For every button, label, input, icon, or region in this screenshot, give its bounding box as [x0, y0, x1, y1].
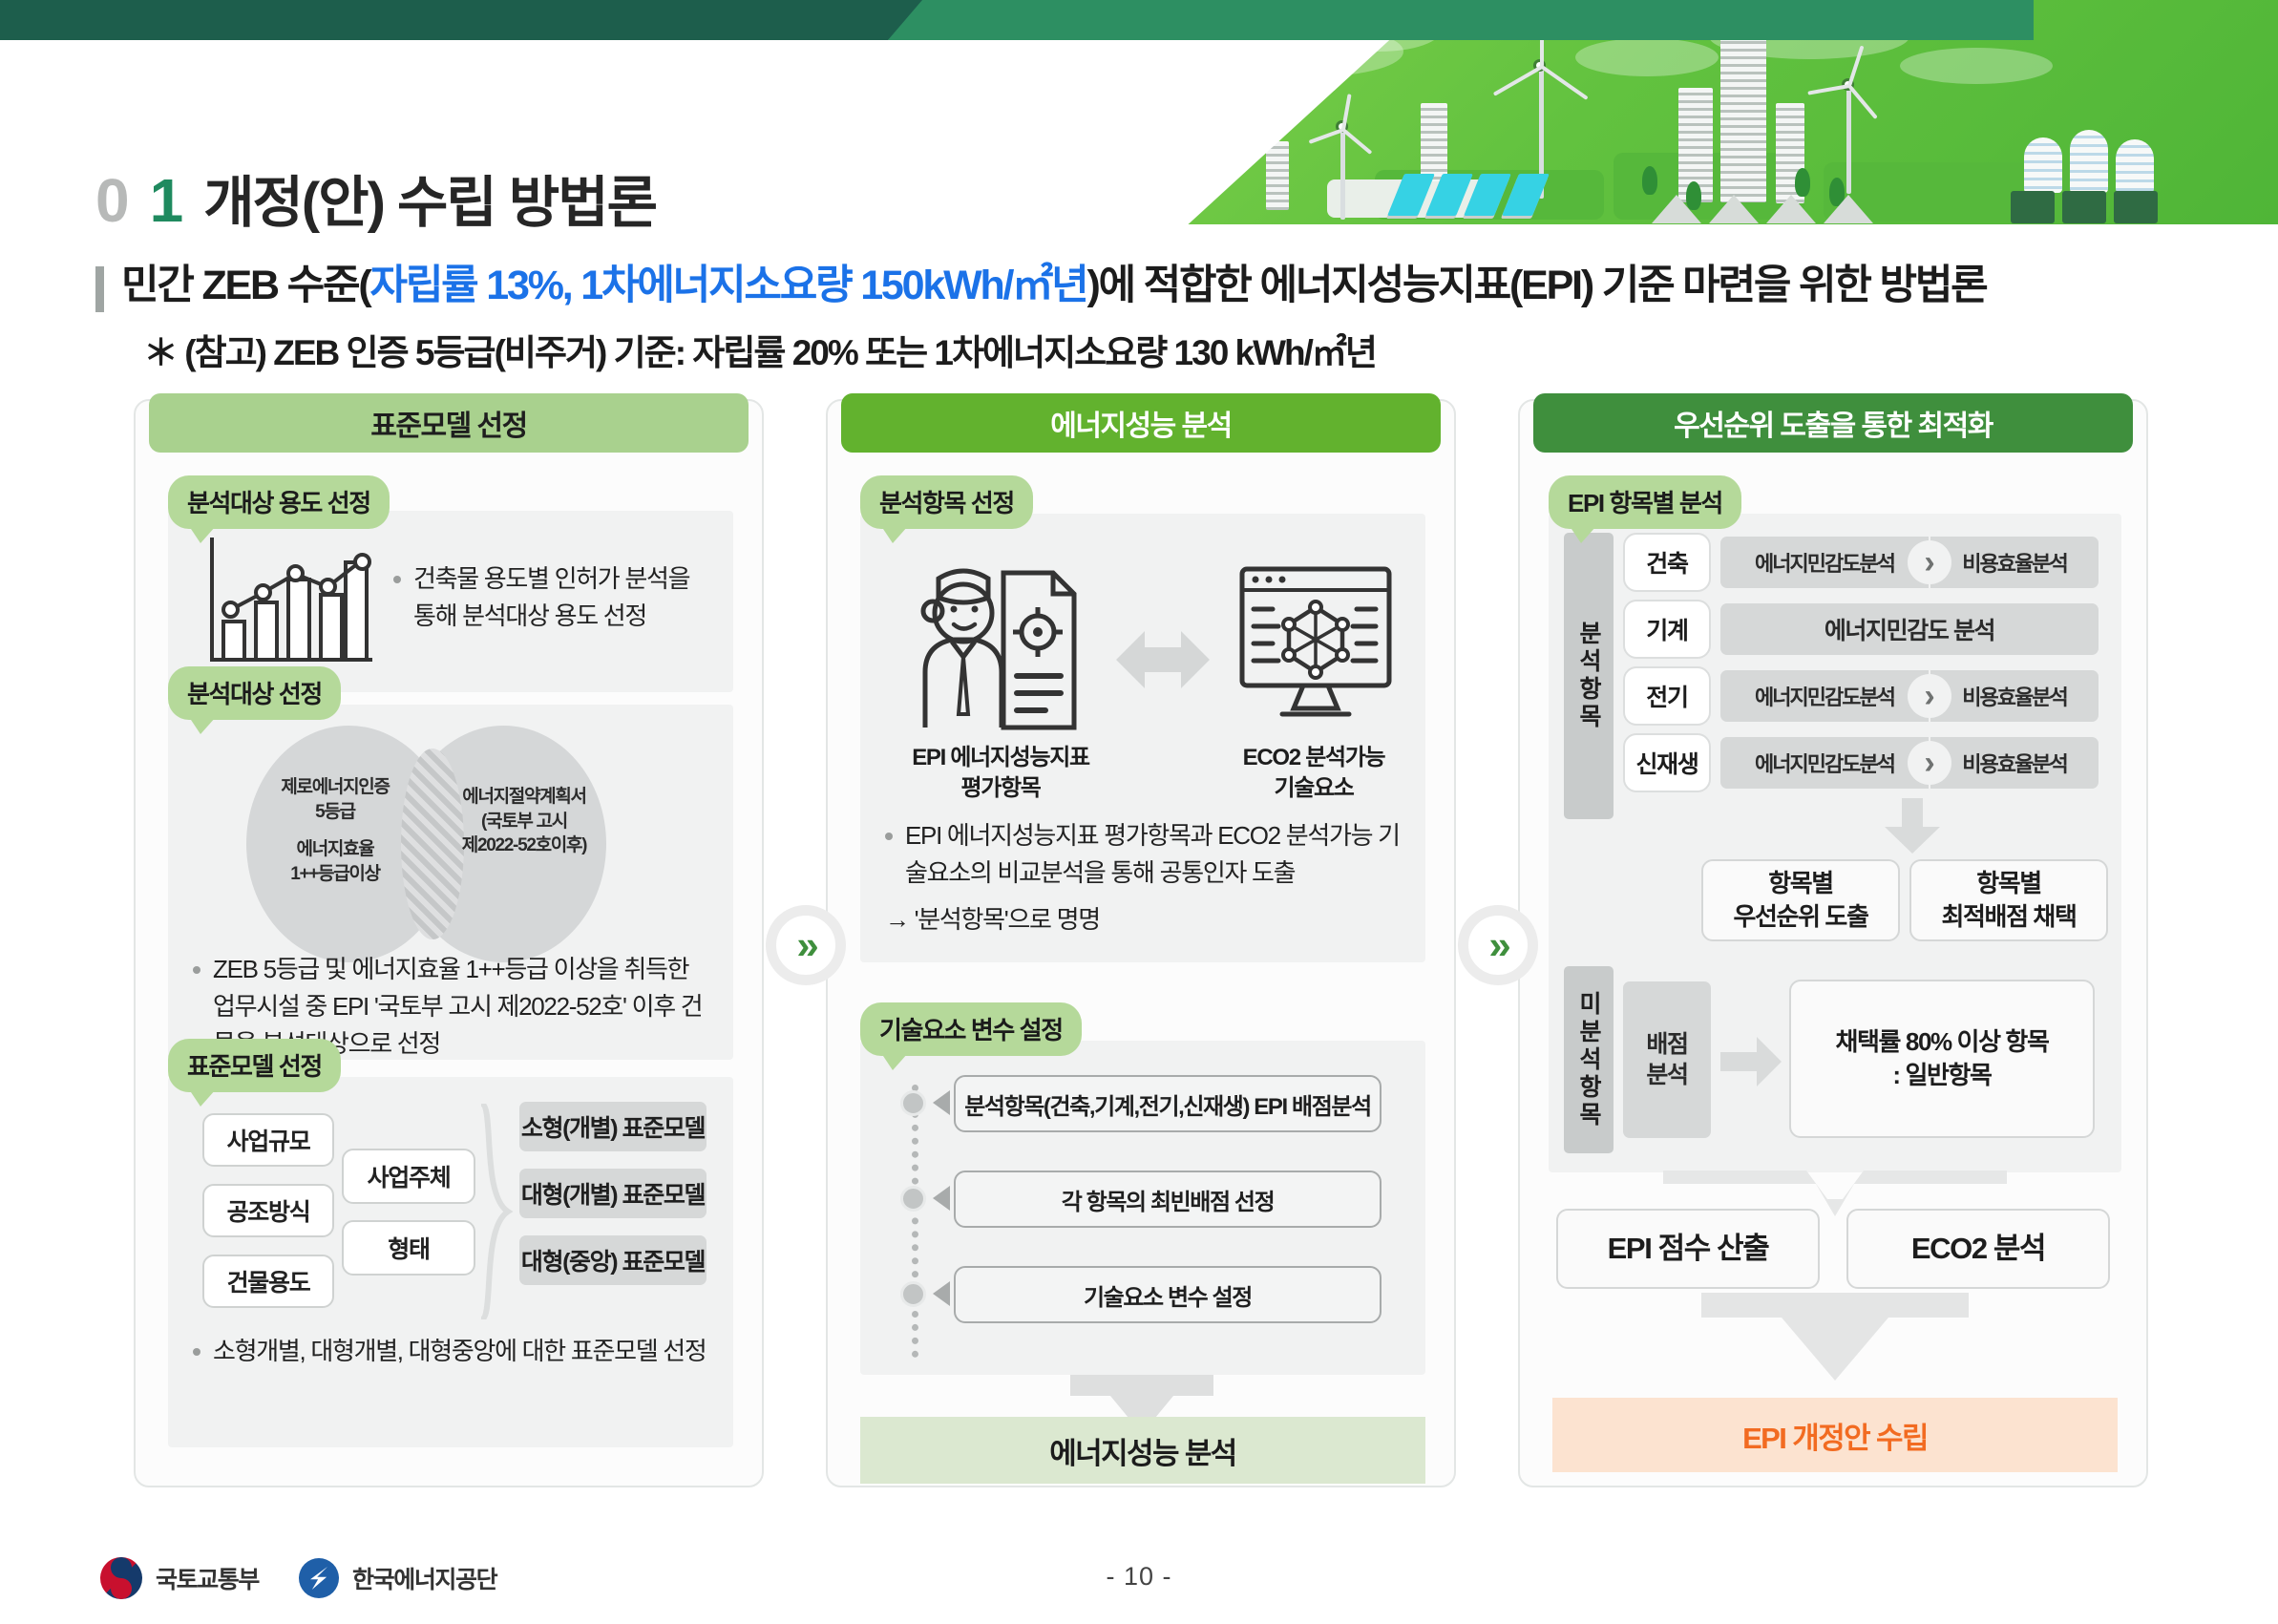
section-number-second: 1 — [150, 165, 183, 236]
column-energy-analysis: 에너지성능 분석 분석항목 선정 — [826, 399, 1456, 1487]
score-analysis-label: 배점 분석 — [1623, 981, 1711, 1138]
timeline-line — [912, 1085, 918, 1358]
matrix-row-label-mechanical: 기계 — [1623, 600, 1711, 659]
bullet-usage: 건축물 용도별 인허가 분석을 통해 분석대상 용도 선정 — [393, 560, 708, 635]
chevron-right-icon: › — [1908, 674, 1951, 718]
bullet-naming: → '분석항목'으로 명명 — [885, 901, 1100, 939]
bubble-epi-item-analysis: EPI 항목별 분석 — [1549, 475, 1741, 529]
matrix-cell-sensitivity-1: 에너지민감도분석 — [1720, 537, 1929, 588]
chevron-right-icon: › — [1908, 540, 1951, 584]
matrix-cell-sensitivity-2: 에너지민감도 분석 — [1720, 603, 2099, 655]
panel-optimization: 분석항목 건축 에너지민감도분석 비용효율분석 › 기계 에너지민감도 분석 전… — [1549, 514, 2121, 1172]
slide: 01 개정(안) 수립 방법론 민간 ZEB 수준(자립률 13%, 1차에너지… — [0, 0, 2278, 1624]
subtitle-suffix: )에 적합한 에너지성능지표(EPI) 기준 마련을 위한 방법론 — [1086, 263, 1986, 308]
result-bar-epi-revision: EPI 개정안 수립 — [1552, 1398, 2118, 1472]
final-box-eco2: ECO2 분석 — [1846, 1209, 2110, 1289]
bar-chart-icon — [200, 538, 372, 662]
page-number: - 10 - — [0, 1562, 2278, 1592]
epi-evaluator-icon — [910, 559, 1091, 736]
matrix-cell-cost-1: 비용효율분석 — [1930, 537, 2099, 588]
subtitle-block: 민간 ZEB 수준(자립률 13%, 1차에너지소요량 150kWh/㎡년)에 … — [95, 263, 2196, 375]
timeline-dot — [900, 1186, 926, 1212]
panel-tech-variable: 분석항목(건축,기계,전기,신재생) EPI 배점분석 각 항목의 최빈배점 선… — [860, 1041, 1425, 1375]
venn-diagram: 제로에너지인증 5등급 에너지효율 1++등급이상 에너지절약계획서 (국토부 … — [246, 726, 657, 964]
subtitle-text: 민간 ZEB 수준(자립률 13%, 1차에너지소요량 150kWh/㎡년)에 … — [121, 263, 1987, 309]
down-arrow-icon — [1885, 798, 1940, 854]
section-title: 개정(안) 수립 방법론 — [203, 158, 656, 238]
factor-box-usage: 건물용도 — [202, 1255, 334, 1308]
right-arrow-icon — [1720, 1037, 1782, 1086]
label-eco2-tech: ECO2 분석가능 기술요소 — [1213, 743, 1414, 805]
methodology-columns: 표준모델 선정 분석대상 용도 선정 — [134, 399, 2148, 1487]
section-number-first: 0 — [95, 165, 129, 236]
timeline-box-scoring: 분석항목(건축,기계,전기,신재생) EPI 배점분석 — [954, 1075, 1382, 1132]
bubble-item-selection: 분석항목 선정 — [860, 475, 1033, 529]
timeline-caret — [933, 1281, 950, 1306]
connector-arrow-2: » — [1458, 905, 1538, 985]
vertical-label-unanalyzed-items: 미분석항목 — [1564, 966, 1614, 1153]
bullet-dot — [193, 966, 200, 974]
timeline-box-mode: 각 항목의 최빈배점 선정 — [954, 1171, 1382, 1228]
chevron-right-icon: › — [1908, 741, 1951, 785]
output-box-priority: 항목별 우선순위 도출 — [1701, 859, 1900, 941]
label-epi-items: EPI 에너지성능지표 평가항목 — [900, 743, 1101, 805]
model-box-small: 소형(개별) 표준모델 — [519, 1102, 707, 1151]
brace-icon — [475, 1104, 514, 1319]
matrix-row-label-renewable: 신재생 — [1623, 733, 1711, 792]
panel-item-selection: EPI 에너지성능지표 평가항목 ECO2 분석가능 기술요소 EPI 에너지성… — [860, 514, 1425, 962]
final-box-epi-score: EPI 점수 산출 — [1556, 1209, 1820, 1289]
panel-target-selection: 제로에너지인증 5등급 에너지효율 1++등급이상 에너지절약계획서 (국토부 … — [168, 705, 733, 1060]
column-optimization: 우선순위 도출을 통한 최적화 EPI 항목별 분석 분석항목 건축 에너지민감… — [1518, 399, 2148, 1487]
venn-right-label: 에너지절약계획서 (국토부 고시 제2022-52호이후) — [437, 785, 611, 858]
page-title: 01 개정(안) 수립 방법론 — [95, 158, 656, 238]
panel-usage-selection: 건축물 용도별 인허가 분석을 통해 분석대상 용도 선정 — [168, 511, 733, 692]
subtitle-highlight: 자립률 13%, 1차에너지소요량 150kWh/㎡년 — [369, 263, 1086, 308]
factor-box-hvac: 공조방식 — [202, 1184, 334, 1237]
double-arrow-icon — [1116, 626, 1210, 693]
connector-arrow-1: » — [766, 905, 846, 985]
subtitle-prefix: 민간 ZEB 수준( — [121, 263, 369, 308]
result-bar-energy-analysis: 에너지성능 분석 — [860, 1417, 1425, 1484]
timeline-box-variable: 기술요소 변수 설정 — [954, 1266, 1382, 1323]
general-items-box: 채택률 80% 이상 항목 : 일반항목 — [1789, 980, 2095, 1138]
timeline-dot — [900, 1090, 926, 1116]
model-box-large-individual: 대형(개별) 표준모델 — [519, 1169, 707, 1218]
factor-box-scale: 사업규모 — [202, 1113, 334, 1167]
bubble-standard-model: 표준모델 선정 — [168, 1039, 341, 1092]
footer: 국토교통부 한국에너지공단 - 10 - — [0, 1519, 2278, 1624]
panel-standard-model: 사업규모 공조방식 건물용도 사업주체 형태 소형(개별) 표준모델 대형(개별… — [168, 1077, 733, 1447]
column-1-header: 표준모델 선정 — [149, 393, 749, 453]
timeline-caret — [933, 1090, 950, 1115]
timeline-dot — [900, 1281, 926, 1307]
banner-mid-strip — [888, 0, 2034, 40]
matrix-row-label-architecture: 건축 — [1623, 533, 1711, 592]
banner-dark-strip — [0, 0, 955, 40]
bubble-analysis-usage: 분석대상 용도 선정 — [168, 475, 390, 529]
matrix-cell-cost-3: 비용효율분석 — [1930, 670, 2099, 722]
down-arrow-icon — [1701, 1293, 1969, 1381]
matrix-cell-cost-4: 비용효율분석 — [1930, 737, 2099, 789]
bullet-dot — [885, 833, 893, 840]
vertical-label-analysis-items: 분석항목 — [1564, 533, 1614, 819]
eco2-monitor-icon — [1234, 561, 1397, 733]
output-box-optimal-score: 항목별 최적배점 채택 — [1909, 859, 2108, 941]
bubble-tech-variable: 기술요소 변수 설정 — [860, 1002, 1082, 1056]
matrix-row-label-electrical: 전기 — [1623, 666, 1711, 726]
bullet-common-factor: EPI 에너지성능지표 평가항목과 ECO2 분석가능 기술요소의 비교분석을 … — [885, 817, 1408, 892]
model-box-large-central: 대형(중앙) 표준모델 — [519, 1235, 707, 1285]
subtitle-note: ＊ (참고) ZEB 인증 5등급(비주거) 기준: 자립률 20% 또는 1차… — [143, 324, 2196, 375]
matrix-cell-sensitivity-3: 에너지민감도분석 — [1720, 670, 1929, 722]
subtitle-accent-bar — [95, 266, 104, 312]
bubble-analysis-target: 분석대상 선정 — [168, 666, 341, 720]
bullet-dot — [393, 576, 401, 583]
column-3-header: 우선순위 도출을 통한 최적화 — [1533, 393, 2133, 453]
bullet-dot — [193, 1348, 200, 1356]
venn-left-label: 제로에너지인증 5등급 에너지효율 1++등급이상 — [254, 775, 416, 887]
bullet-model: 소형개별, 대형개별, 대형중앙에 대한 표준모델 선정 — [193, 1333, 728, 1370]
column-2-header: 에너지성능 분석 — [841, 393, 1441, 453]
factor-box-form: 형태 — [342, 1220, 475, 1276]
factor-box-owner: 사업주체 — [342, 1149, 475, 1204]
column-standard-model: 표준모델 선정 분석대상 용도 선정 — [134, 399, 764, 1487]
matrix-cell-sensitivity-4: 에너지민감도분석 — [1720, 737, 1929, 789]
timeline-caret — [933, 1186, 950, 1211]
